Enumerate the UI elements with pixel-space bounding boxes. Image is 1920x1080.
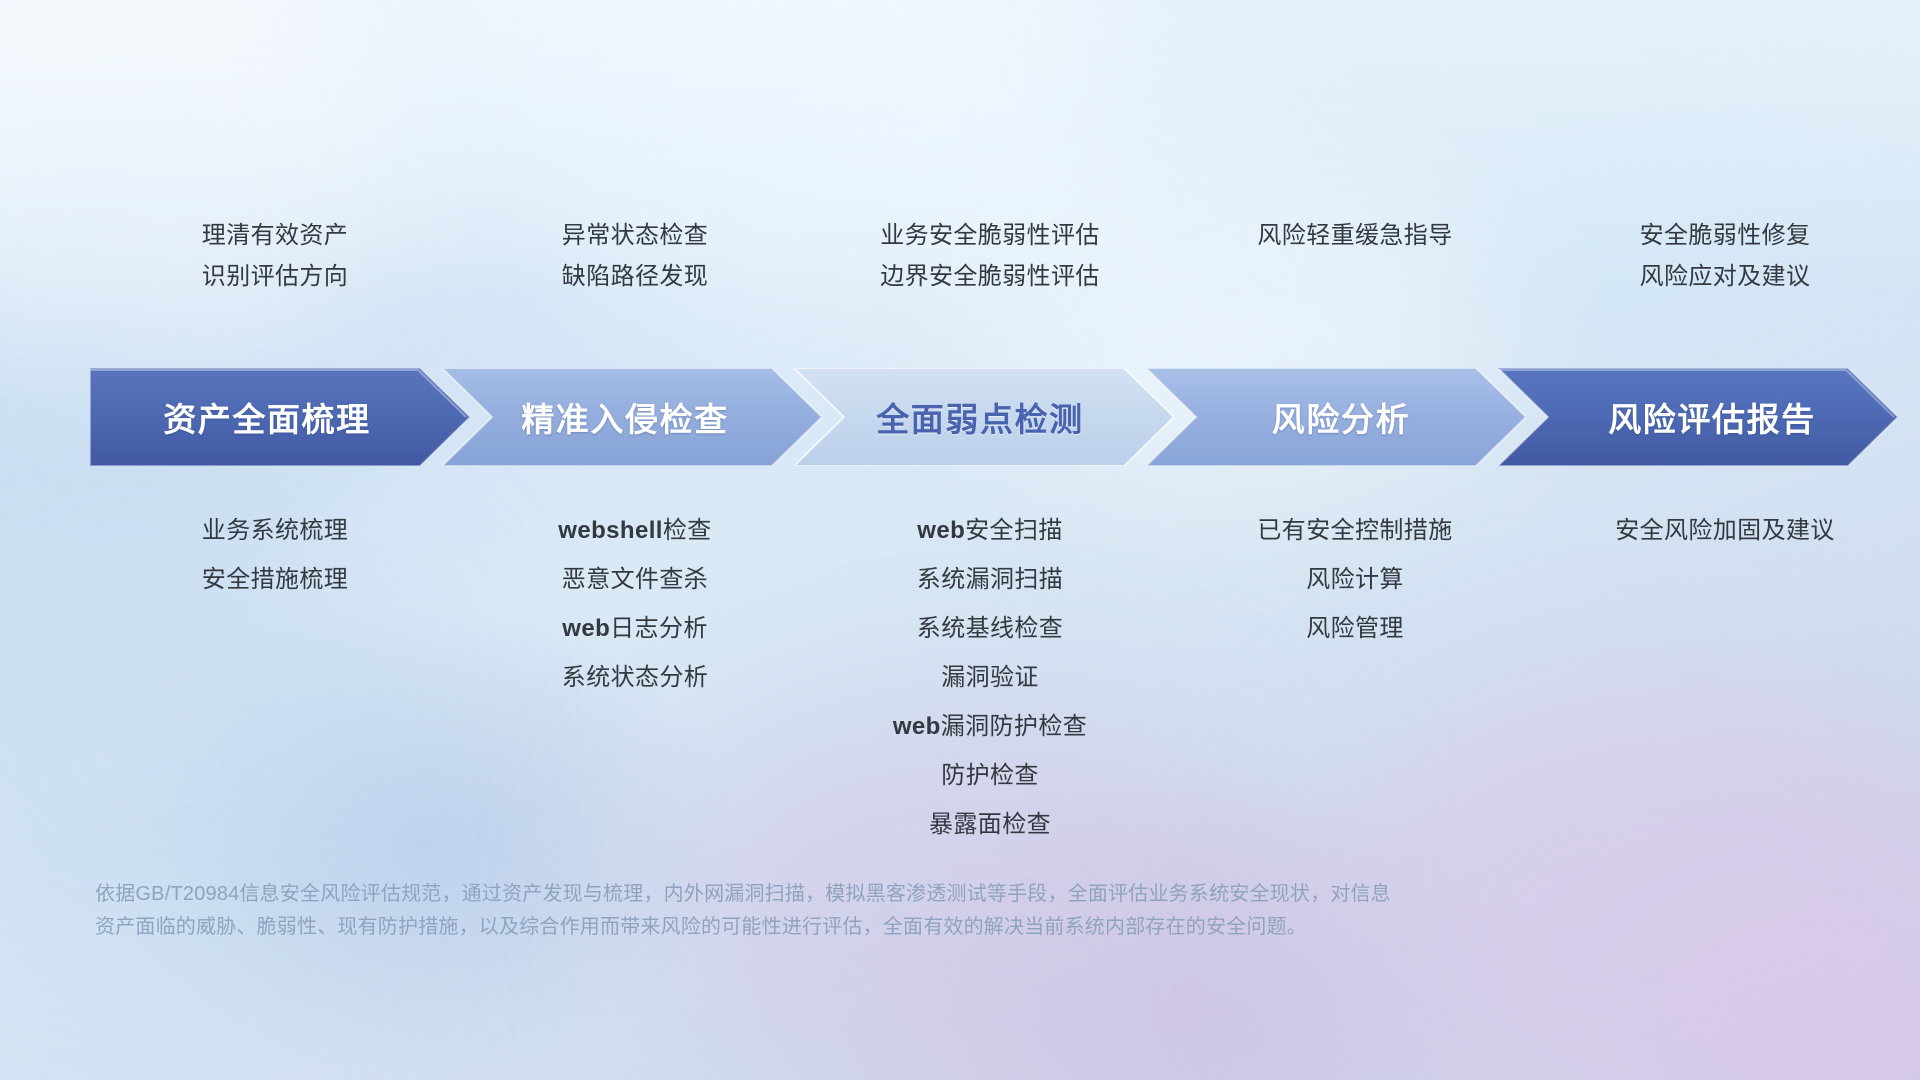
chevron-stage-risk-analysis[interactable]: 风险分析: [1146, 368, 1526, 466]
chevron-stage-weakness-detection[interactable]: 全面弱点检测: [794, 368, 1174, 466]
top-item-list: 理清有效资产 识别评估方向: [90, 215, 460, 347]
stage-column-weakness-detection-detail: web安全扫描 系统漏洞扫描 系统基线检查 漏洞验证 web漏洞防护检查 防护检…: [810, 490, 1170, 849]
stage-column-asset-inventory-detail: 业务系统梳理 安全措施梳理: [90, 490, 460, 849]
bottom-item: 风险管理: [1170, 604, 1540, 653]
bottom-item-list: web安全扫描 系统漏洞扫描 系统基线检查 漏洞验证 web漏洞防护检查 防护检…: [810, 490, 1170, 849]
bottom-item: web安全扫描: [810, 506, 1170, 555]
chevron-stage-risk-report[interactable]: 风险评估报告: [1498, 368, 1898, 466]
bottom-item-list: webshell检查 恶意文件查杀 web日志分析 系统状态分析: [460, 490, 810, 702]
top-item: 理清有效资产: [90, 215, 460, 256]
bottom-item-prefix: webshell: [558, 517, 663, 544]
stage-column-risk-report-detail: 安全风险加固及建议: [1540, 490, 1910, 849]
bottom-item: web日志分析: [460, 604, 810, 653]
stage-columns-bottom: 业务系统梳理 安全措施梳理 webshell检查 恶意文件查杀 web日志分析 …: [90, 490, 1860, 849]
bottom-item: 安全风险加固及建议: [1540, 506, 1910, 555]
stage-column-risk-analysis: 风险轻重缓急指导: [1170, 215, 1540, 347]
bottom-item: 漏洞验证: [810, 653, 1170, 702]
top-item-list: 业务安全脆弱性评估 边界安全脆弱性评估: [810, 215, 1170, 347]
chevron-stage-asset-inventory[interactable]: 资产全面梳理: [90, 368, 470, 466]
bottom-item-list: 业务系统梳理 安全措施梳理: [90, 490, 460, 604]
bottom-item: 恶意文件查杀: [460, 555, 810, 604]
bottom-item-list: 已有安全控制措施 风险计算 风险管理: [1170, 490, 1540, 653]
process-chevron-banner: 资产全面梳理 精准入侵检查: [90, 368, 1860, 466]
top-item: 安全脆弱性修复: [1540, 215, 1910, 256]
stage-columns-top: 理清有效资产 识别评估方向 异常状态检查 缺陷路径发现 业务安全脆弱性评估 边界…: [90, 215, 1860, 347]
bottom-item: 系统基线检查: [810, 604, 1170, 653]
stage-column-intrusion-check: 异常状态检查 缺陷路径发现: [460, 215, 810, 347]
bottom-item-suffix: 漏洞防护检查: [941, 713, 1087, 740]
bottom-item: 业务系统梳理: [90, 506, 460, 555]
chevron-label: 风险分析: [1262, 393, 1410, 441]
top-item: 风险轻重缓急指导: [1170, 215, 1540, 256]
footer-line: 依据GB/T20984信息安全风险评估规范，通过资产发现与梳理，内外网漏洞扫描，…: [95, 878, 1595, 911]
top-item: 识别评估方向: [90, 256, 460, 297]
top-item: 业务安全脆弱性评估: [810, 215, 1170, 256]
bottom-item-list: 安全风险加固及建议: [1540, 490, 1910, 555]
top-item-list: 异常状态检查 缺陷路径发现: [460, 215, 810, 347]
bottom-item: webshell检查: [460, 506, 810, 555]
bottom-item-suffix: 检查: [663, 517, 712, 544]
bottom-item-prefix: web: [893, 713, 941, 740]
top-item-list: 风险轻重缓急指导: [1170, 215, 1540, 347]
top-item: 缺陷路径发现: [460, 256, 810, 297]
stage-column-asset-inventory: 理清有效资产 识别评估方向: [90, 215, 460, 347]
bottom-item: 安全措施梳理: [90, 555, 460, 604]
bottom-item: web漏洞防护检查: [810, 702, 1170, 751]
chevron-label: 资产全面梳理: [163, 393, 397, 441]
bottom-item: 系统状态分析: [460, 653, 810, 702]
top-item-list: 安全脆弱性修复 风险应对及建议: [1540, 215, 1910, 347]
slide-canvas: 理清有效资产 识别评估方向 异常状态检查 缺陷路径发现 业务安全脆弱性评估 边界…: [0, 0, 1920, 1080]
chevron-label: 全面弱点检测: [876, 393, 1092, 441]
footer-line: 资产面临的威胁、脆弱性、现有防护措施，以及综合作用而带来风险的可能性进行评估，全…: [95, 911, 1595, 944]
bottom-item: 系统漏洞扫描: [810, 555, 1170, 604]
bottom-item-prefix: web: [917, 517, 965, 544]
bottom-item-suffix: 日志分析: [610, 615, 708, 642]
stage-column-risk-analysis-detail: 已有安全控制措施 风险计算 风险管理: [1170, 490, 1540, 849]
top-item: 边界安全脆弱性评估: [810, 256, 1170, 297]
chevron-label: 风险评估报告: [1580, 393, 1816, 441]
bottom-item: 暴露面检查: [810, 800, 1170, 849]
top-item: 风险应对及建议: [1540, 256, 1910, 297]
bottom-item: 已有安全控制措施: [1170, 506, 1540, 555]
bottom-item: 风险计算: [1170, 555, 1540, 604]
chevron-label: 精准入侵检查: [521, 393, 743, 441]
bottom-item-prefix: web: [562, 615, 610, 642]
bottom-item: 防护检查: [810, 751, 1170, 800]
stage-column-weakness-detection: 业务安全脆弱性评估 边界安全脆弱性评估: [810, 215, 1170, 347]
chevron-stage-intrusion-check[interactable]: 精准入侵检查: [442, 368, 822, 466]
stage-column-risk-report: 安全脆弱性修复 风险应对及建议: [1540, 215, 1910, 347]
top-item: 异常状态检查: [460, 215, 810, 256]
stage-column-intrusion-check-detail: webshell检查 恶意文件查杀 web日志分析 系统状态分析: [460, 490, 810, 849]
bottom-item-suffix: 安全扫描: [965, 517, 1063, 544]
footer-description: 依据GB/T20984信息安全风险评估规范，通过资产发现与梳理，内外网漏洞扫描，…: [95, 878, 1595, 944]
